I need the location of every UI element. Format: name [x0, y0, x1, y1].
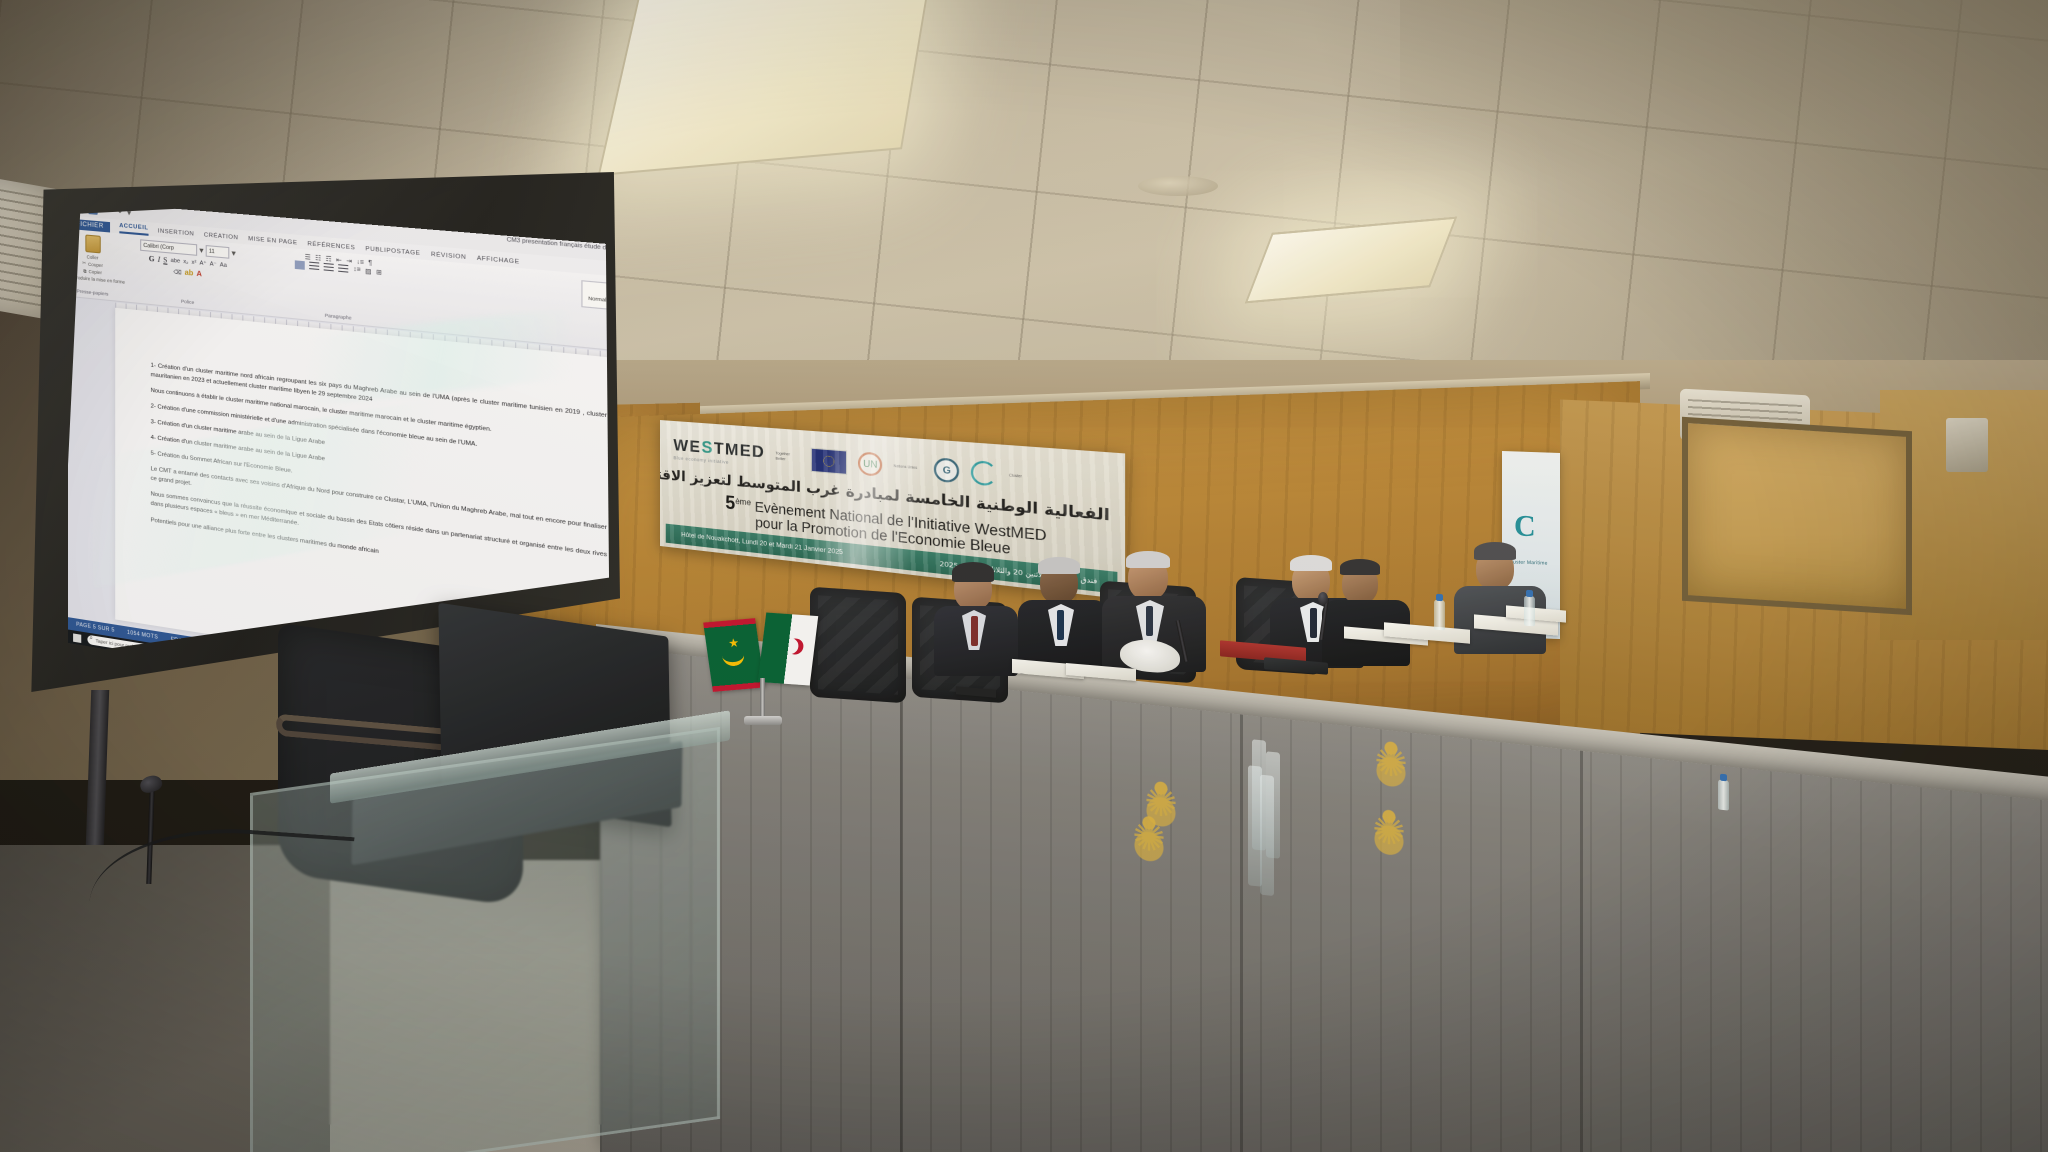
copy-item[interactable]: ⧉ Copier: [83, 268, 102, 275]
emblem-star-icon: ✺: [1132, 763, 1190, 843]
align-left-icon[interactable]: [295, 260, 305, 269]
panelist-tie: [1310, 608, 1317, 638]
ceiling-light-panel-1: [598, 0, 932, 176]
gizc-logo-icon: G: [934, 457, 959, 483]
paragraph-group[interactable]: ☰ ☷ ☶ ⇤ ⇥ ↓≡ ¶ ↕: [266, 250, 412, 326]
flag-pole: [760, 678, 765, 720]
emblem-star-icon: ✺: [1362, 723, 1420, 803]
un-logo-caption: Nations Unies: [894, 464, 923, 471]
font-name-chevron-down-icon[interactable]: ▾: [199, 246, 203, 256]
bold-button[interactable]: G: [149, 255, 155, 264]
table-glass-accent: [1266, 751, 1280, 858]
panelist-hair: [1474, 542, 1516, 560]
font-color-icon[interactable]: A: [196, 271, 201, 279]
align-center-icon[interactable]: [310, 262, 320, 272]
paste-label[interactable]: Coller: [87, 254, 99, 260]
panelist-hair: [1126, 551, 1170, 568]
eu-stars: [812, 448, 846, 473]
cut-label: Couper: [88, 261, 103, 268]
cluster-logo-icon: [971, 460, 997, 487]
show-marks-icon[interactable]: ¶: [368, 260, 372, 267]
align-justify-icon[interactable]: [339, 264, 349, 274]
font-name-input[interactable]: Calibri (Corp: [140, 239, 197, 256]
font-size-input[interactable]: 11: [206, 245, 230, 259]
cluster-logo-caption: Cluster: [1009, 473, 1040, 480]
chrome-icon[interactable]: [268, 664, 278, 675]
font-color-buttons[interactable]: ⌫ ab A: [173, 268, 202, 278]
screenshot-root: C Cluster Maritime WESTMED Blue economy …: [0, 0, 2048, 1152]
water-bottle: [1434, 600, 1445, 631]
wall-speaker: [1946, 418, 1988, 472]
clear-formatting-icon[interactable]: ⌫: [173, 269, 181, 276]
algeria-flag: [758, 612, 818, 685]
style-sans-interligne[interactable]: Sans int.: [617, 283, 620, 313]
font-group-label: Police: [181, 299, 194, 306]
eu-funded-caption: Together Better: [776, 452, 801, 464]
panelist: [1014, 558, 1112, 672]
table-panel-seam: [1240, 714, 1243, 1152]
panelist-hair: [952, 562, 994, 582]
sort-icon[interactable]: ↓≡: [356, 259, 363, 266]
westmed-word-left: WE: [673, 438, 701, 456]
panelist-hair: [1340, 559, 1380, 575]
superscript-icon[interactable]: x²: [192, 260, 197, 267]
panelist-tie: [1057, 610, 1064, 640]
font-size-chevron-down-icon[interactable]: ▾: [231, 248, 235, 258]
font-group[interactable]: Calibri (Corp ▾ 11 ▾ G I S abe x₂ x²: [119, 237, 257, 311]
table-panel-seam: [900, 678, 903, 1152]
strikethrough-icon[interactable]: abe: [171, 258, 181, 265]
align-right-icon[interactable]: [324, 263, 334, 273]
line-spacing-icon[interactable]: ↕≡: [353, 267, 360, 274]
desk-flag-pair: ★: [700, 612, 830, 722]
un-logo-icon: UN: [858, 451, 882, 477]
edge-icon[interactable]: [236, 659, 246, 670]
table-glass-accent: [1252, 739, 1266, 850]
panelist-tie: [1146, 606, 1153, 636]
panelist-hair: [1038, 557, 1080, 574]
borders-icon[interactable]: ⊞: [376, 268, 382, 276]
panelist: [1320, 560, 1412, 664]
change-case-icon[interactable]: Aa: [220, 262, 227, 269]
grow-font-icon[interactable]: A⁺: [200, 260, 207, 267]
clipboard-group-label: Presse-papiers: [77, 288, 109, 296]
cut-item[interactable]: ✂ Couper: [82, 260, 103, 268]
water-bottle: [1718, 779, 1729, 810]
mauritania-flag: ★: [703, 618, 765, 692]
emblem-star-icon: ✺: [1360, 791, 1418, 871]
table-emblem: ✺: [1360, 791, 1418, 871]
explorer-icon[interactable]: [252, 661, 262, 672]
ceiling-seam: [1400, 0, 2048, 390]
ceiling-vent: [1138, 176, 1218, 196]
flag-crescent-icon: [781, 638, 799, 655]
text-highlight-icon[interactable]: ab: [185, 269, 194, 277]
panelist: [928, 562, 1024, 672]
projection-screen: [1682, 417, 1912, 615]
westmed-s-glyph: S: [701, 438, 714, 456]
paste-icon[interactable]: [85, 234, 100, 253]
panelist-tie: [971, 616, 978, 646]
water-bottle: [1524, 596, 1535, 627]
shrink-font-icon[interactable]: A⁻: [210, 261, 217, 268]
ordinal-number: 5: [725, 492, 735, 513]
ordinal-suffix: ème: [735, 497, 751, 508]
paragraph-group-label: Paragraphe: [325, 313, 352, 321]
table-emblem: ✺: [1132, 763, 1190, 843]
tv-screen[interactable]: W ▤ ↶ ↷ ▾ CM3 presentation français étud…: [10, 172, 620, 692]
westmed-logo: WESTMED Blue economy initiative: [673, 436, 765, 468]
table-panel-seam: [1580, 751, 1583, 1152]
windows-start-icon[interactable]: [73, 633, 81, 643]
italic-button[interactable]: I: [158, 255, 160, 264]
flag-base: [744, 716, 782, 725]
underline-button[interactable]: S: [163, 256, 167, 265]
table-emblem: ✺: [1362, 723, 1420, 803]
flag-star-icon: ★: [727, 636, 740, 651]
floor-cables: [85, 819, 354, 977]
shading-icon[interactable]: ▨: [365, 267, 371, 275]
cluster-logo-letter: C: [1514, 509, 1536, 544]
eu-flag-icon: [811, 447, 847, 474]
desk-microphone-head: [1318, 592, 1328, 605]
subscript-icon[interactable]: x₂: [183, 259, 188, 266]
wall-mounted-display: W ▤ ↶ ↷ ▾ CM3 presentation français étud…: [10, 172, 620, 692]
copy-label: Copier: [89, 268, 102, 274]
